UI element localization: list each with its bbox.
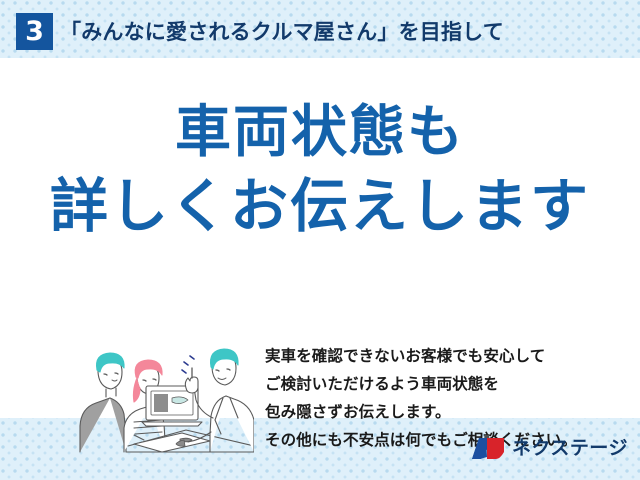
- nextage-logo: ネクステージ: [471, 434, 628, 462]
- body-copy-line-2: ご検討いただけるよう車両状態を: [265, 370, 620, 398]
- nextage-wordmark: ネクステージ: [512, 436, 628, 461]
- body-copy-line-1: 実車を確認できないお客様でも安心して: [265, 342, 620, 370]
- slide-canvas: 3 「みんなに愛されるクルマ屋さん」を目指して 車両状態も 詳しくお伝えします: [0, 0, 640, 480]
- headline-line-1: 車両状態も: [0, 102, 640, 164]
- slide-footer: ネクステージ: [0, 418, 640, 480]
- headline-line-2: 詳しくお伝えします: [0, 174, 640, 238]
- slide-header: 3 「みんなに愛されるクルマ屋さん」を目指して: [0, 0, 640, 58]
- nextage-n-mark-icon: [471, 436, 505, 461]
- section-number-badge: 3: [16, 13, 53, 50]
- section-title: 「みんなに愛されるクルマ屋さん」を目指して: [60, 14, 504, 50]
- content-panel: 車両状態も 詳しくお伝えします: [0, 58, 640, 418]
